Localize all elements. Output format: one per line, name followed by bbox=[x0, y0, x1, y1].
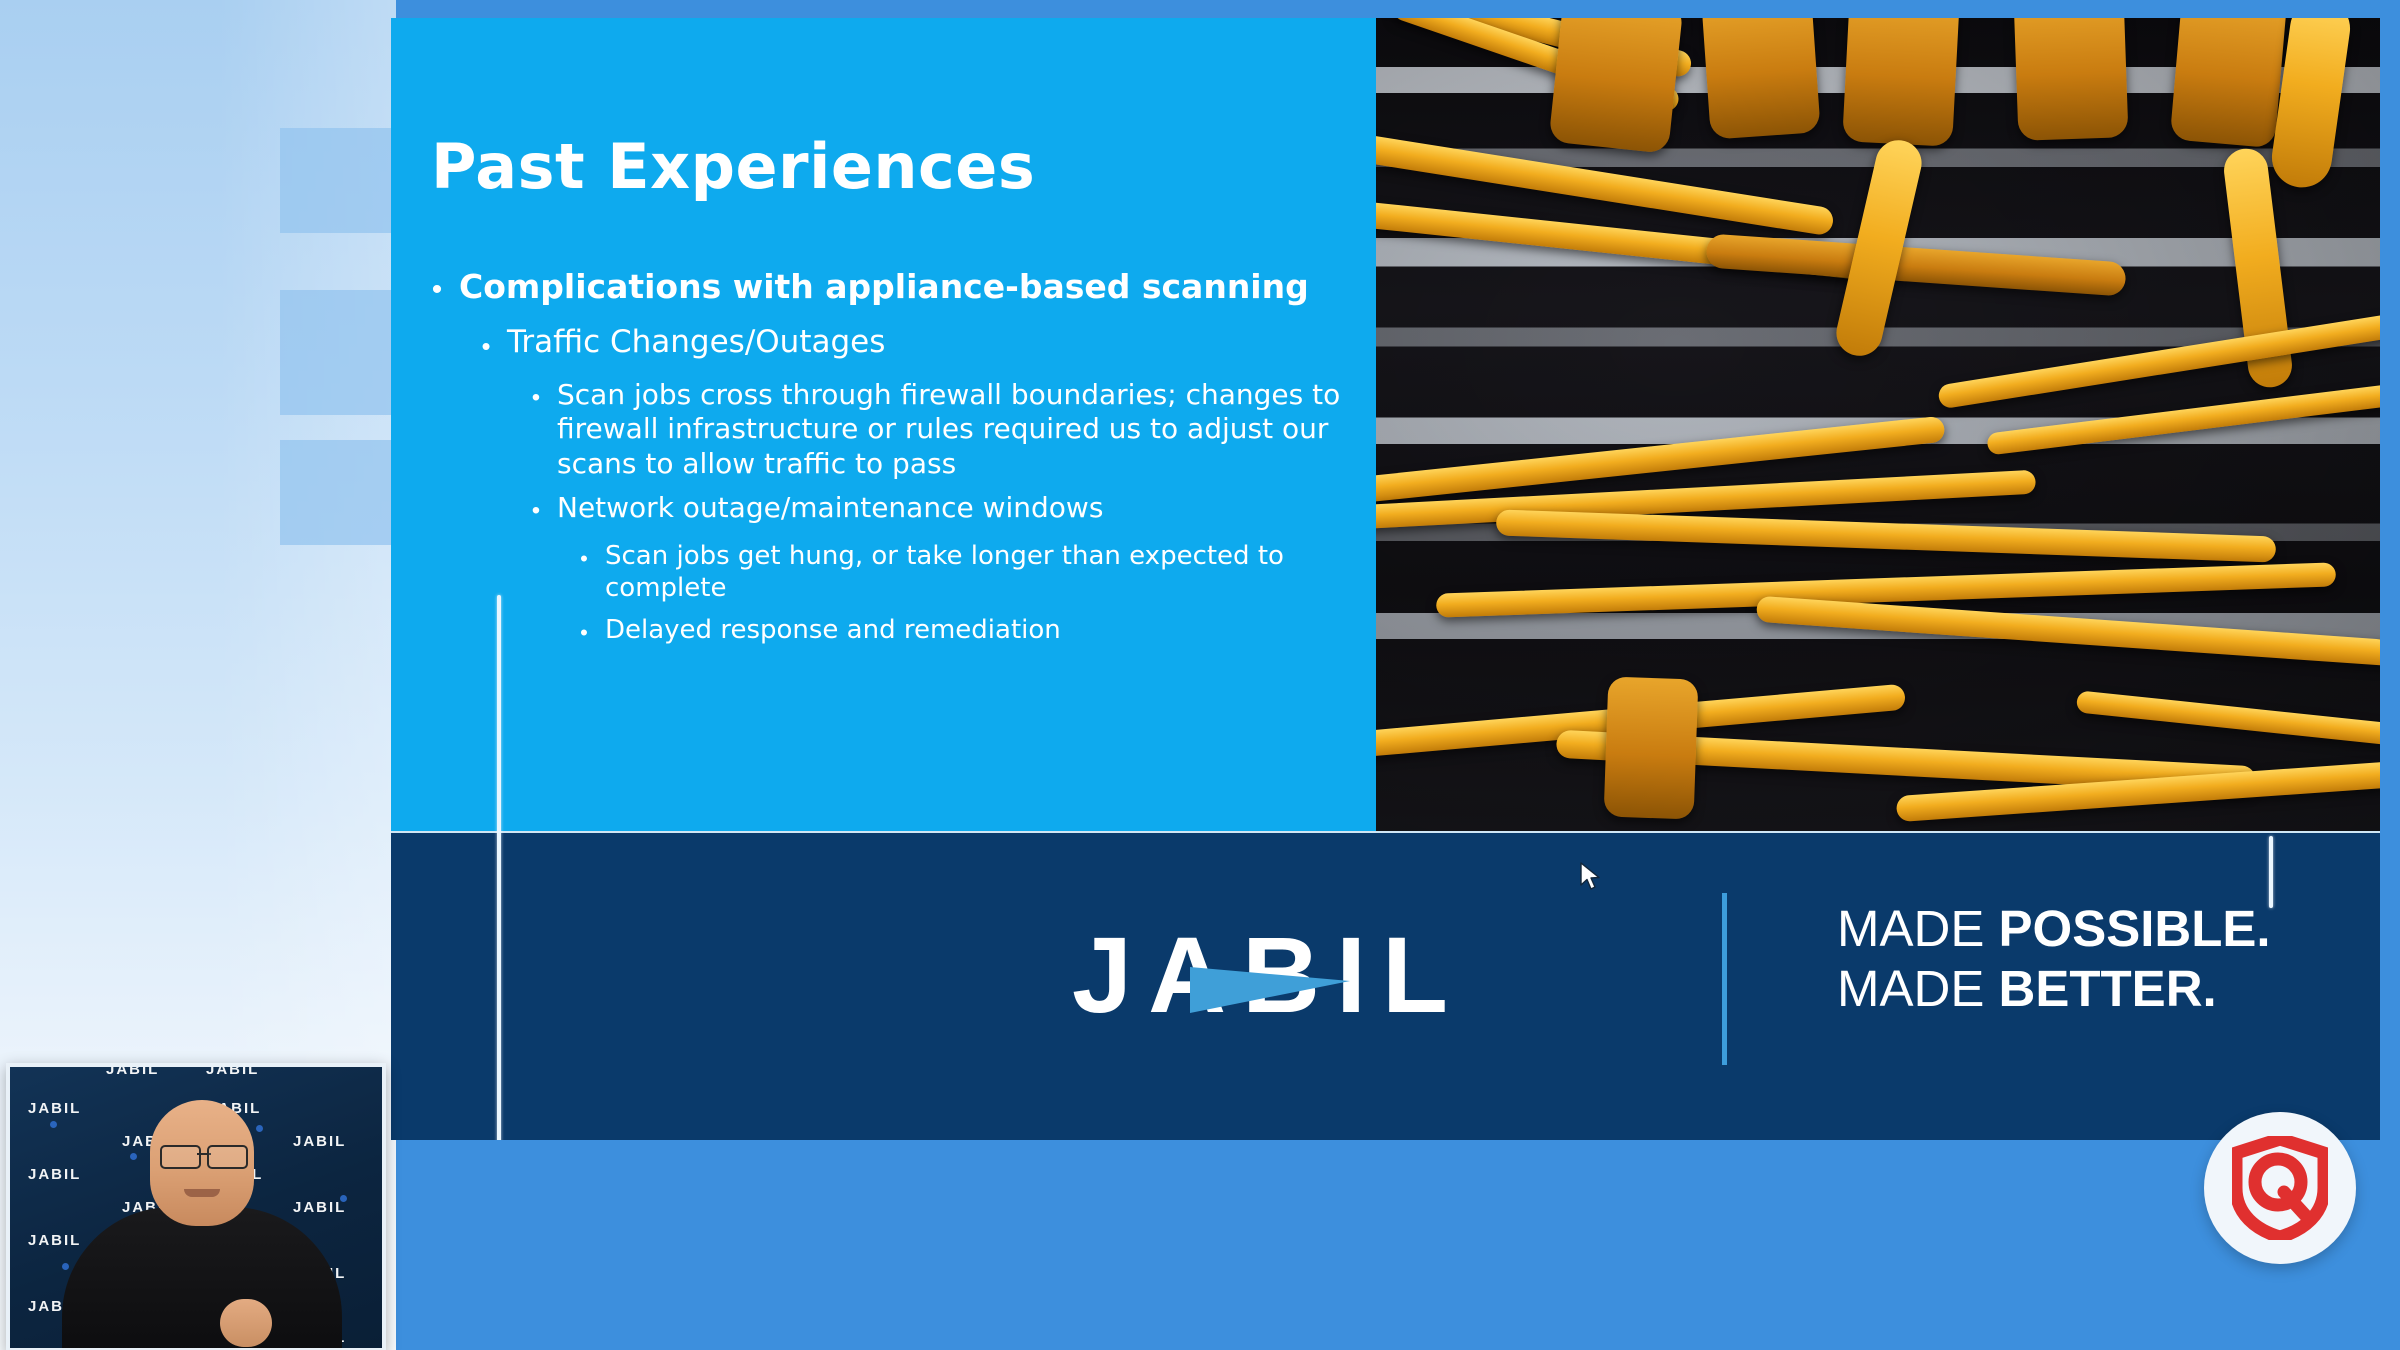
bullet-level-2: • Traffic Changes/Outages bbox=[415, 324, 1355, 368]
bullet-text: Network outage/maintenance windows bbox=[557, 491, 1355, 525]
bullet-level-3: • Network outage/maintenance windows bbox=[415, 491, 1355, 531]
decorative-square bbox=[280, 440, 392, 545]
qualys-badge[interactable] bbox=[2204, 1112, 2356, 1264]
webcam-bg-tile: JABIL bbox=[28, 1166, 81, 1183]
tagline-line2-thin: MADE bbox=[1837, 960, 1999, 1017]
tagline-line1-bold: POSSIBLE. bbox=[1999, 900, 2271, 957]
bullet-dot-icon: • bbox=[515, 378, 557, 418]
webcam-bg-tile: JABIL bbox=[293, 1199, 346, 1216]
bullet-text: Complications with appliance-based scann… bbox=[459, 268, 1355, 306]
webcam-bg-sparkle bbox=[50, 1121, 57, 1128]
mouse-cursor-icon bbox=[1580, 862, 1602, 892]
jabil-logo: JABIL bbox=[1072, 915, 1617, 1035]
webcam-bg-sparkle bbox=[62, 1263, 69, 1270]
bullet-dot-icon: • bbox=[563, 541, 605, 577]
presentation-slide[interactable]: Past Experiences • Complications with ap… bbox=[391, 18, 2380, 1140]
webcam-bg-tile: JABIL bbox=[28, 1232, 81, 1249]
slide-title: Past Experiences bbox=[431, 130, 1035, 203]
slide-photo-patch-panel bbox=[1376, 18, 2380, 833]
bullet-level-3: • Scan jobs cross through firewall bound… bbox=[415, 378, 1355, 481]
bullet-dot-icon: • bbox=[515, 491, 557, 531]
presenter-mouth bbox=[184, 1189, 220, 1197]
bullet-text: Traffic Changes/Outages bbox=[507, 324, 1355, 361]
webcam-bg-sparkle bbox=[340, 1195, 347, 1202]
footer-logo-lockup: JABIL MADE POSSIBLE. MADE BETTER. bbox=[447, 893, 2327, 1133]
bullet-level-4: • Scan jobs get hung, or take longer tha… bbox=[415, 541, 1355, 605]
bullet-dot-icon: • bbox=[465, 324, 507, 368]
webcam-bg-tile: JABIL bbox=[28, 1100, 81, 1117]
bullet-text: Scan jobs get hung, or take longer than … bbox=[605, 541, 1355, 605]
webcam-bg-tile: JABIL bbox=[293, 1133, 346, 1150]
webcam-bg-tile: JABIL bbox=[206, 1063, 259, 1078]
jabil-tagline: MADE POSSIBLE. MADE BETTER. bbox=[1837, 899, 2271, 1019]
bullet-level-4: • Delayed response and remediation bbox=[415, 615, 1355, 651]
webcam-bg-sparkle bbox=[130, 1153, 137, 1160]
bullet-text: Scan jobs cross through firewall boundar… bbox=[557, 378, 1355, 481]
presenter-hand bbox=[220, 1299, 272, 1347]
slide-bullet-list: • Complications with appliance-based sca… bbox=[415, 268, 1355, 651]
bullet-dot-icon: • bbox=[415, 268, 459, 312]
bullet-dot-icon: • bbox=[563, 615, 605, 651]
decorative-square-column bbox=[280, 0, 392, 840]
bullet-level-1: • Complications with appliance-based sca… bbox=[415, 268, 1355, 312]
webcam-video-thumbnail[interactable]: JABIL JABIL JABIL JABIL JABIL JABIL JABI… bbox=[6, 1063, 386, 1350]
jabil-swoosh-icon bbox=[1190, 967, 1350, 1013]
tagline-line1-thin: MADE bbox=[1837, 900, 1999, 957]
decorative-square bbox=[280, 290, 392, 415]
screen: Past Experiences • Complications with ap… bbox=[0, 0, 2400, 1350]
webcam-bg-sparkle bbox=[256, 1125, 263, 1132]
decorative-square bbox=[280, 128, 392, 233]
tagline-line2-bold: BETTER. bbox=[1999, 960, 2217, 1017]
presenter-glasses-icon bbox=[160, 1145, 248, 1165]
webcam-bg-tile: JABIL bbox=[106, 1063, 159, 1078]
logo-divider bbox=[1722, 893, 1727, 1065]
qualys-shield-icon bbox=[2232, 1136, 2328, 1240]
bullet-text: Delayed response and remediation bbox=[605, 615, 1355, 647]
